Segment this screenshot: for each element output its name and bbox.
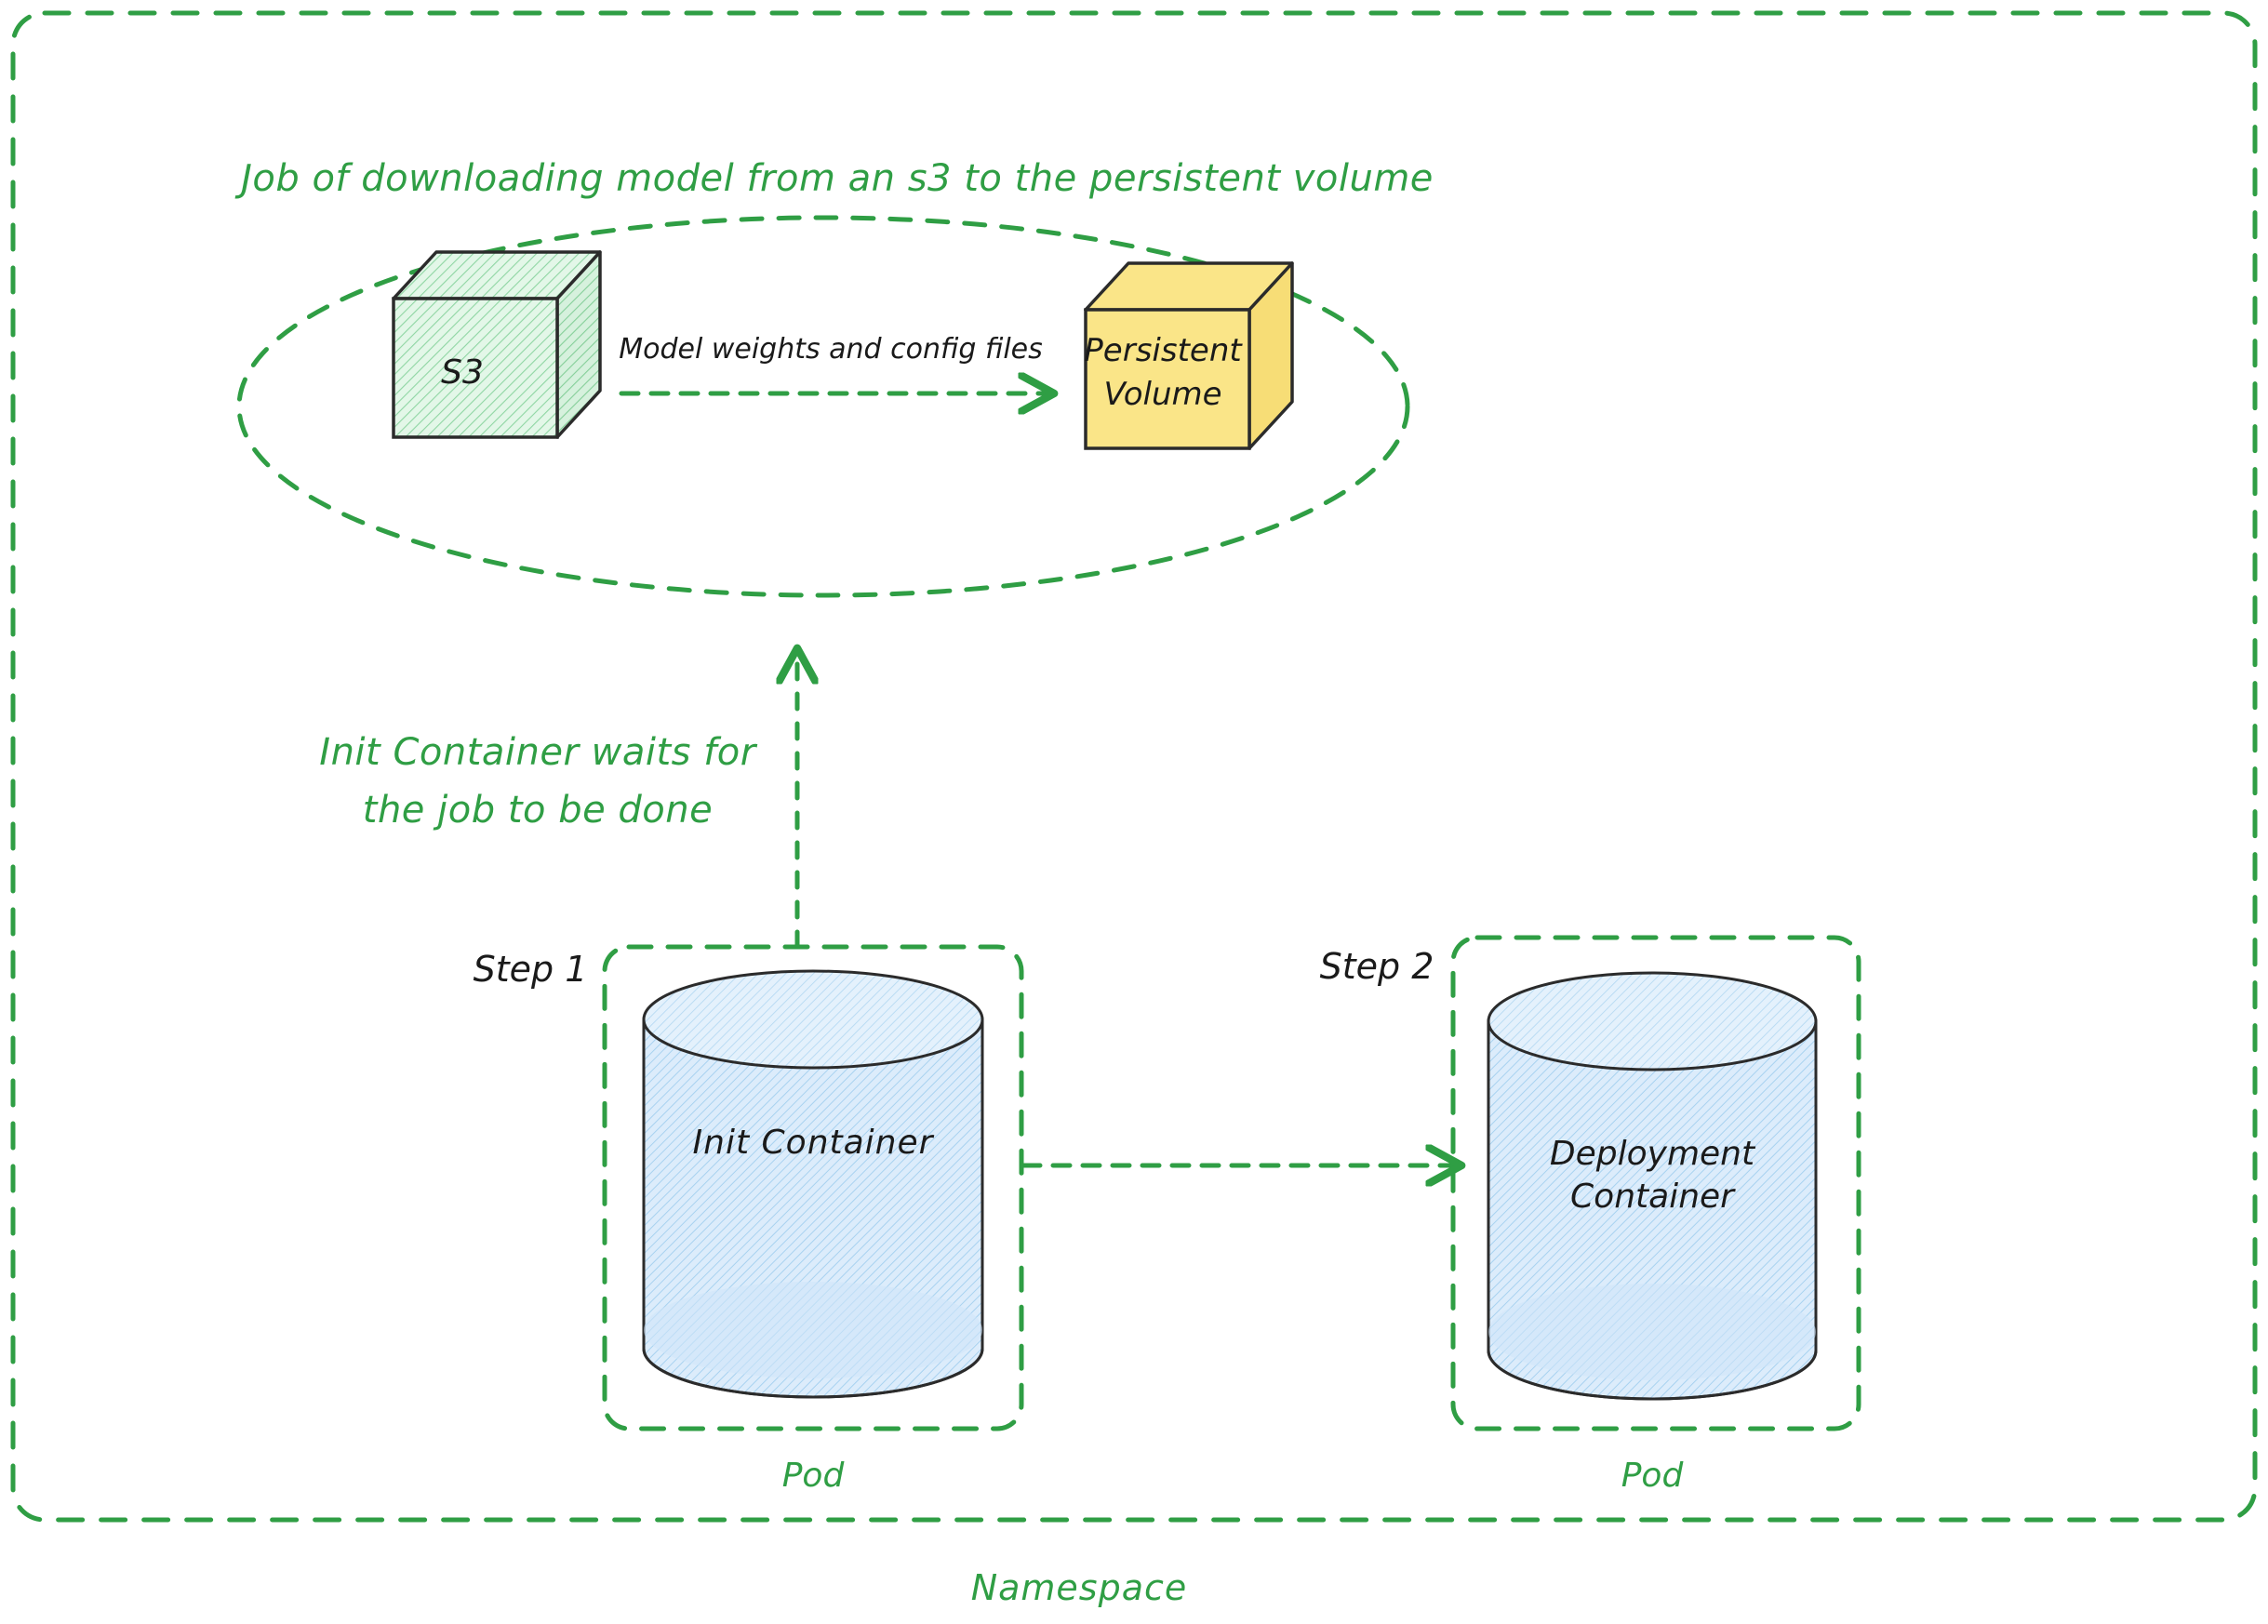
model-weights-edge-label: Model weights and config files [619, 333, 1043, 366]
pod-2-cylinder[interactable]: Deployment Container [1488, 973, 1816, 1399]
pod-2-step-label: Step 2 [1320, 946, 1434, 987]
pod-1-cylinder-top [644, 971, 982, 1068]
pod-2-label: Pod [1621, 1457, 1685, 1495]
pv-cube-label-line1: Persistent [1084, 332, 1243, 369]
pod-1-step-label: Step 1 [474, 949, 588, 990]
diagram-canvas: Namespace Job of downloading model from … [0, 0, 2268, 1624]
persistent-volume-cube[interactable]: Persistent Volume [1084, 263, 1292, 448]
pod-2-cylinder-bottom-fill [1488, 1284, 1816, 1380]
init-wait-label-line1: Init Container waits for [319, 731, 757, 774]
namespace-label: Namespace [971, 1567, 1188, 1608]
init-wait-label-line2: the job to be done [363, 789, 713, 832]
pv-cube-label-line2: Volume [1103, 376, 1221, 413]
job-group-title: Job of downloading model from an s3 to t… [234, 157, 1434, 200]
pod-1-container-label: Init Container [693, 1124, 935, 1162]
s3-cube[interactable]: S3 [394, 252, 600, 437]
pod-1-label: Pod [782, 1457, 846, 1495]
pod-2-container-label-line1: Deployment [1550, 1135, 1756, 1173]
pod-1-cylinder[interactable]: Init Container [644, 971, 982, 1397]
pod-2-container-label-line2: Container [1570, 1178, 1736, 1216]
pod-1-cylinder-bottom-fill [644, 1282, 982, 1378]
s3-cube-label: S3 [441, 353, 484, 392]
architecture-diagram: Namespace Job of downloading model from … [0, 0, 2268, 1624]
pod-2-cylinder-top [1488, 973, 1816, 1070]
